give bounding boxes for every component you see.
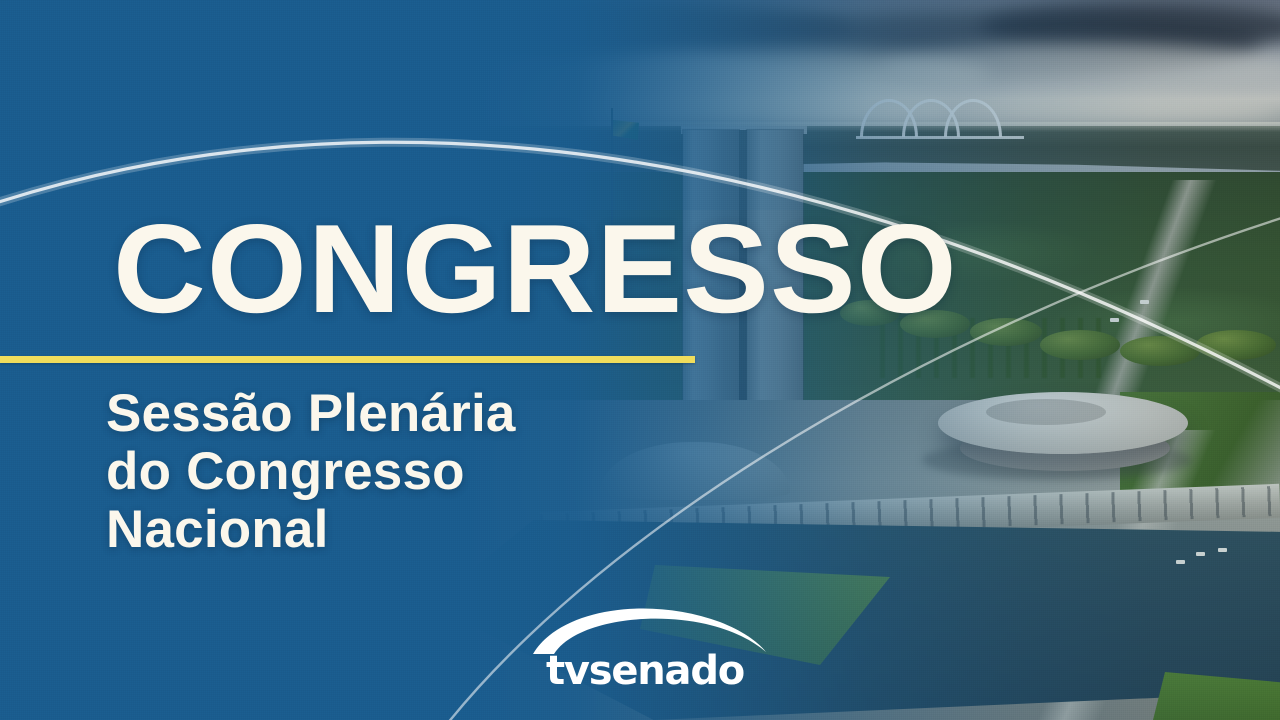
broadcast-lower-third-slate: CONGRESSO Sessão Plenária do Congresso N… (0, 0, 1280, 720)
subtitle-line-1: Sessão Plenária (106, 385, 516, 443)
yellow-divider-rule (0, 356, 695, 363)
title-block: CONGRESSO (113, 206, 941, 332)
subtitle-line-3: Nacional (106, 501, 516, 559)
tvsenado-wordmark: tvsenado (500, 648, 790, 694)
subtitle-block: Sessão Plenária do Congresso Nacional (106, 385, 516, 558)
page-title: CONGRESSO (113, 206, 958, 332)
tvsenado-logo: tvsenado (500, 600, 790, 700)
subtitle-line-2: do Congresso (106, 443, 516, 501)
